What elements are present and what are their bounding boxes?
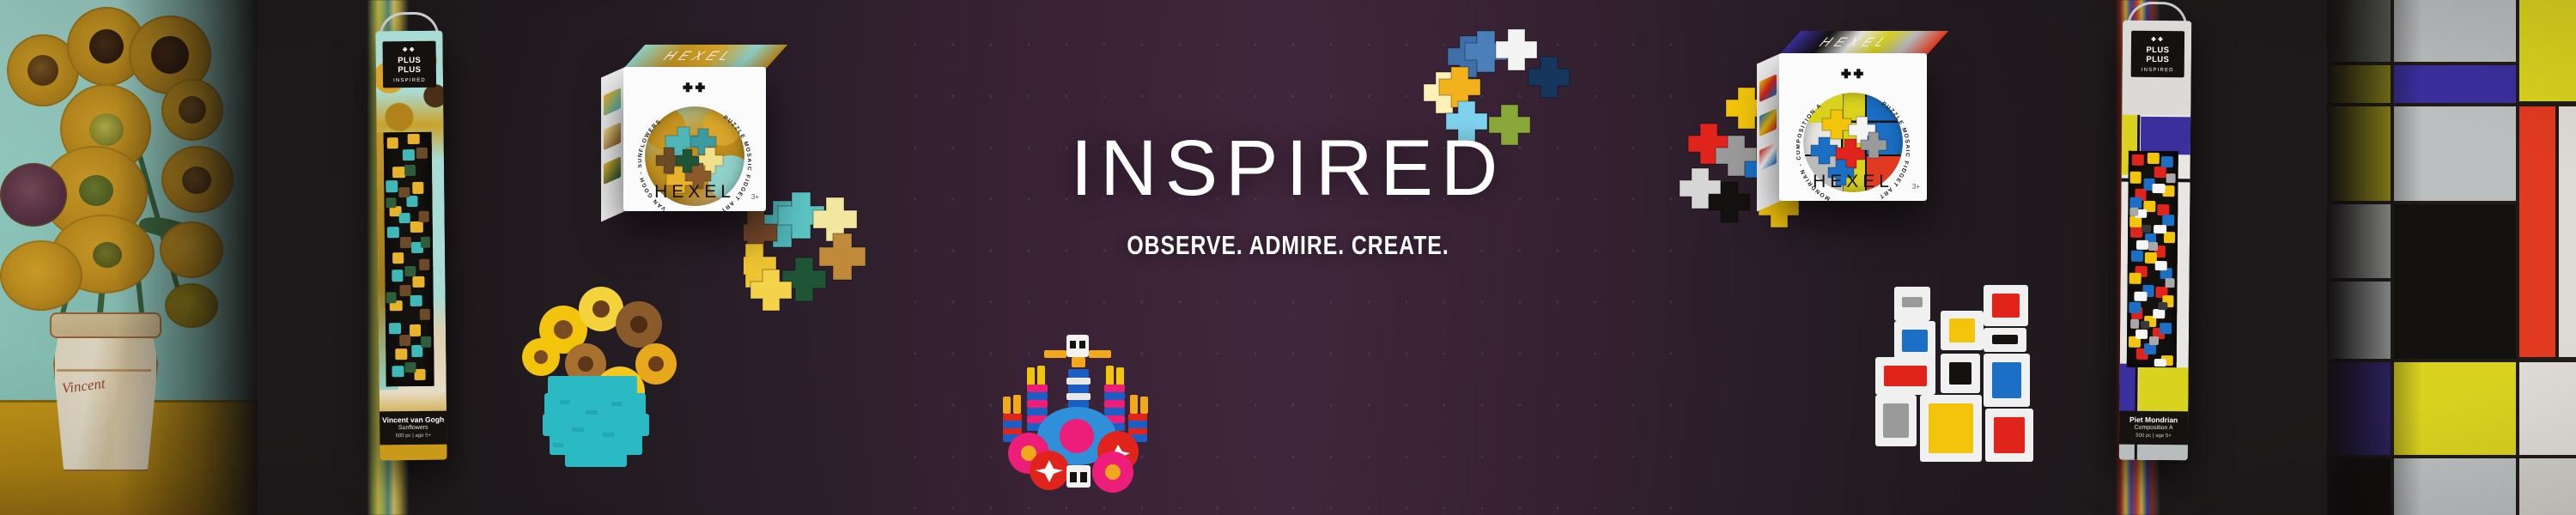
tube-label-van-gogh: Vincent van Gogh Sunflowers 500 pc | age… <box>375 410 447 445</box>
banner-subheadline: OBSERVE. ADMIRE. CREATE. <box>258 230 2318 261</box>
tube-label-artist: Vincent van Gogh <box>376 415 447 425</box>
sunflower-head <box>165 283 218 328</box>
mondrian-cell <box>2327 0 2391 62</box>
brand-tagline: INSPIRED <box>393 78 426 83</box>
plus-plus-logo-icon <box>680 81 709 96</box>
sunflower-core <box>89 29 124 64</box>
plus-plus-logo-icon <box>1838 67 1868 82</box>
mondrian-cell <box>2519 0 2576 101</box>
sunflower-core <box>151 36 189 74</box>
mondrian-cell <box>2394 0 2516 62</box>
plus-plus-logo-icon <box>402 45 417 54</box>
mondrian-cell <box>2327 282 2391 359</box>
banner-text-block: INSPIRED OBSERVE. ADMIRE. CREATE. <box>0 129 2576 261</box>
mondrian-cell <box>2327 362 2391 455</box>
inspired-banner: Vincent PLUS PLUS INSPIRED <box>0 0 2576 515</box>
brand-name-line2: PLUS <box>398 66 421 74</box>
painting-vase-rim <box>50 312 161 338</box>
mondrian-cell <box>2327 458 2391 515</box>
mondrian-cell <box>2327 65 2391 103</box>
hexel-box-top-face: HEXEL <box>623 45 787 69</box>
brand-name-line1: PLUS <box>398 57 421 64</box>
mondrian-cell <box>2394 65 2516 103</box>
painting-vase-band <box>57 369 151 372</box>
sunflower-core <box>27 55 58 86</box>
plus-plus-brand-chip: PLUS PLUS INSPIRED <box>383 41 437 88</box>
plus-plus-logo-icon <box>2150 35 2166 44</box>
tube-label-meta: 500 pc | age 5+ <box>2119 433 2190 440</box>
plus-plus-brand-chip: PLUS PLUS INSPIRED <box>2131 31 2184 78</box>
banner-headline: INSPIRED <box>0 129 2576 208</box>
mondrian-cell <box>2394 362 2516 455</box>
tube-label-artist: Piet Mondrian <box>2119 415 2190 425</box>
sunflower-core <box>179 96 206 124</box>
mondrian-panel-build <box>1874 280 2045 486</box>
hexel-box-top-face: HEXEL <box>1779 31 1948 55</box>
tube-label-mondrian: Piet Mondrian Composition A 500 pc | age… <box>2119 411 2191 445</box>
tube-label-artwork: Sunflowers <box>376 424 447 433</box>
tube-label-artwork: Composition A <box>2119 424 2190 433</box>
model-mondrian-panel <box>1874 280 2045 486</box>
tube-label-meta: 500 pc | age 5+ <box>376 433 447 440</box>
model-floral-bouquet <box>993 331 1216 515</box>
brand-tagline: INSPIRED <box>2142 68 2174 73</box>
mondrian-cell <box>2394 458 2516 515</box>
mondrian-cell <box>2519 362 2576 455</box>
model-sunflower-vase <box>519 285 687 470</box>
brand-name-line1: PLUS <box>2146 46 2169 54</box>
floral-bouquet-build <box>993 331 1216 515</box>
brand-name-line2: PLUS <box>2146 56 2169 64</box>
sunflower-vase-build <box>519 285 687 470</box>
mondrian-cell <box>2519 458 2576 515</box>
